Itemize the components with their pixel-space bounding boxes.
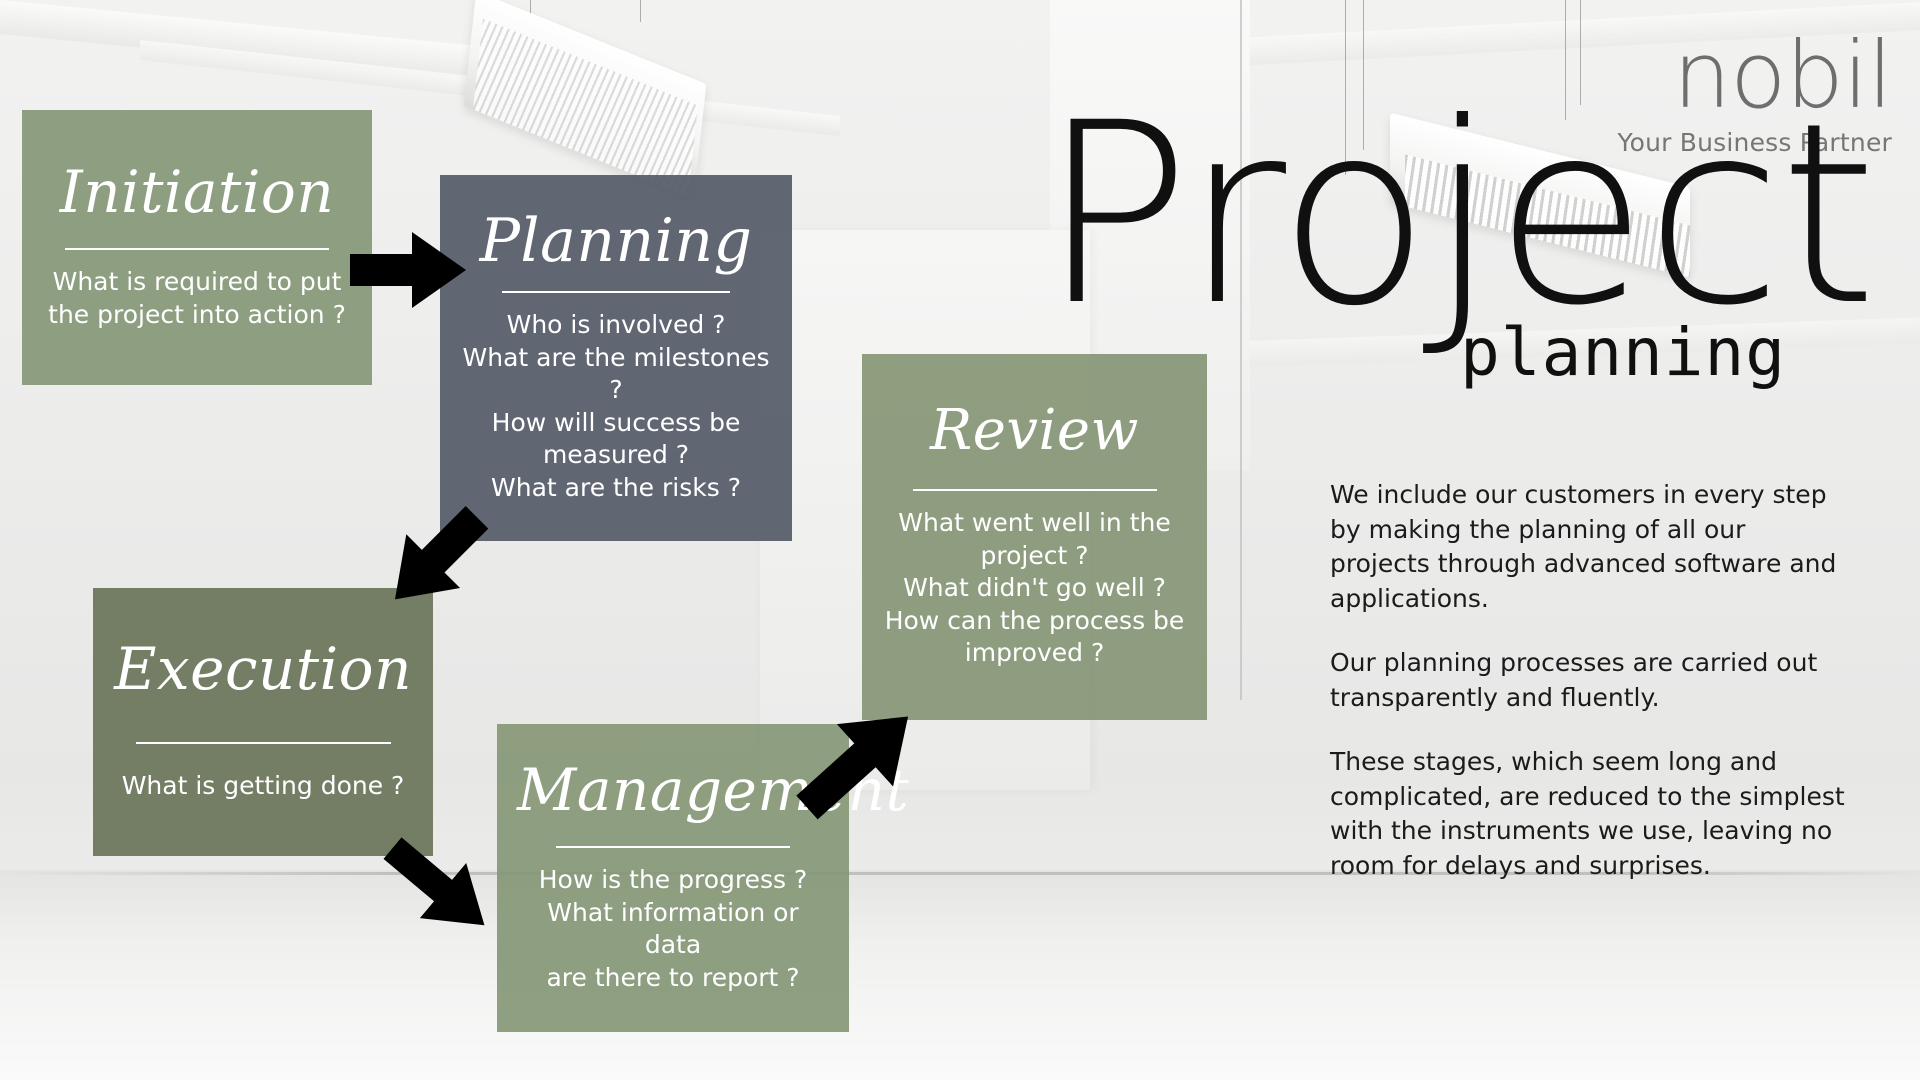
stage-question: improved ? xyxy=(882,637,1187,670)
stage-question: What are the milestones ? xyxy=(460,342,772,407)
flow-arrow-execution-to-management xyxy=(382,832,498,944)
floor xyxy=(0,870,1920,1080)
stage-divider xyxy=(502,291,730,293)
stage-question: What information or data xyxy=(517,897,829,962)
stage-card-planning[interactable]: Planning Who is involved ? What are the … xyxy=(440,175,792,541)
description-paragraph: We include our customers in every step b… xyxy=(1330,478,1850,616)
flow-arrow-management-to-review xyxy=(800,690,924,826)
description-paragraph: These stages, which seem long and compli… xyxy=(1330,745,1850,883)
stage-question: What are the risks ? xyxy=(460,472,772,505)
page-title: Project planning xyxy=(1040,100,1870,391)
stage-question: are there to report ? xyxy=(517,962,829,995)
stage-card-initiation[interactable]: Initiation What is required to put the p… xyxy=(22,110,372,385)
stage-question: measured ? xyxy=(460,439,772,472)
lamp-wire xyxy=(640,0,641,22)
stage-question: project ? xyxy=(882,540,1187,573)
stage-divider xyxy=(65,248,329,250)
stage-card-execution[interactable]: Execution What is getting done ? xyxy=(93,588,433,856)
stage-question: Who is involved ? xyxy=(460,309,772,342)
stage-card-management[interactable]: Management How is the progress ? What in… xyxy=(497,724,849,1032)
stage-title: Planning xyxy=(460,210,772,273)
stage-question: What went well in the xyxy=(882,507,1187,540)
stage-question: What is required to put xyxy=(42,266,352,299)
stage-divider xyxy=(913,489,1157,491)
stage-questions: What went well in the project ? What did… xyxy=(882,507,1187,670)
stage-question: the project into action ? xyxy=(42,299,352,332)
stage-question: How can the process be xyxy=(882,605,1187,638)
stage-question: How will success be xyxy=(460,407,772,440)
flow-arrow-planning-to-execution xyxy=(382,508,490,620)
description-text: We include our customers in every step b… xyxy=(1330,478,1850,883)
stage-question: What didn't go well ? xyxy=(882,572,1187,605)
stage-questions: How is the progress ? What information o… xyxy=(517,864,829,994)
stage-title: Review xyxy=(882,402,1187,461)
description-paragraph: Our planning processes are carried out t… xyxy=(1330,646,1850,715)
page-title-main: Project xyxy=(1040,100,1870,330)
stage-divider xyxy=(556,846,790,848)
stage-divider xyxy=(136,742,391,744)
stage-title: Management xyxy=(517,760,829,821)
stage-questions: What is getting done ? xyxy=(113,770,413,803)
stage-question: What is getting done ? xyxy=(113,770,413,803)
stage-question: How is the progress ? xyxy=(517,864,829,897)
stage-questions: What is required to put the project into… xyxy=(42,266,352,331)
stage-title: Initiation xyxy=(42,162,352,223)
flow-arrow-initiation-to-planning xyxy=(350,232,466,308)
stage-title: Execution xyxy=(113,639,413,700)
stage-questions: Who is involved ? What are the milestone… xyxy=(460,309,772,504)
stage-card-review[interactable]: Review What went well in the project ? W… xyxy=(862,354,1207,720)
slide-canvas: nobil Your Business Partner Project plan… xyxy=(0,0,1920,1080)
